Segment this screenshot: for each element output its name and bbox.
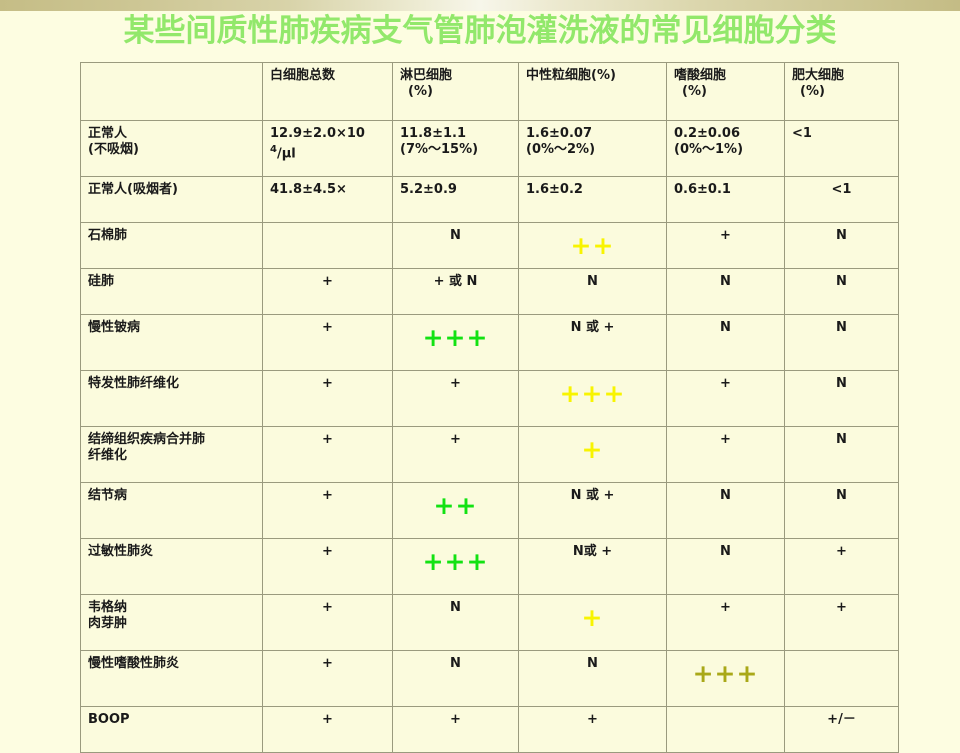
row-label: BOOP	[81, 707, 263, 753]
column-header-total-wbc: 白细胞总数	[263, 63, 393, 121]
cell-mast-cell-value: +	[836, 544, 847, 559]
cell-total-wbc-exponent: 4	[270, 144, 277, 155]
cell-total-wbc-value: 12.9±2.0×10	[270, 126, 365, 141]
cell-total-wbc: +	[263, 595, 393, 651]
table-row: 石棉肺 N ++ + N	[81, 223, 899, 269]
cell-neutrophil: ++	[519, 223, 667, 269]
cell-neutrophil: +	[519, 707, 667, 753]
cell-eosinophil-range: (0%～1%)	[674, 142, 743, 157]
cell-eosinophil-value: N	[720, 320, 731, 335]
row-label: 结节病	[81, 483, 263, 539]
cell-lymphocyte-grade-mark: +++	[400, 320, 511, 350]
cell-mast-cell-value: N	[836, 228, 847, 243]
table-header: 白细胞总数 淋巴细胞 (%) 中性粒细胞(%) 嗜酸细胞 (%) 肥大细胞 (%…	[81, 63, 899, 121]
cell-lymphocyte: N	[393, 595, 519, 651]
cell-eosinophil: +	[667, 371, 785, 427]
slide-title: 某些间质性肺疾病支气管肺泡灌洗液的常见细胞分类	[0, 10, 960, 52]
cell-mast-cell-value: <1	[832, 182, 852, 197]
cell-lymphocyte: +	[393, 707, 519, 753]
cell-total-wbc: +	[263, 371, 393, 427]
cell-total-wbc-unit: /μl	[277, 146, 296, 161]
cell-total-wbc-value: 41.8±4.5×	[270, 182, 347, 197]
row-label-line1: 韦格纳	[88, 600, 127, 615]
cell-eosinophil-value: N	[720, 544, 731, 559]
row-label-line1: 正常人(吸烟者)	[88, 182, 178, 197]
cell-total-wbc-value: +	[322, 656, 333, 671]
cell-lymphocyte-value: +	[450, 376, 461, 391]
row-label: 正常人 (不吸烟)	[81, 121, 263, 177]
cell-mast-cell: N	[785, 269, 899, 315]
cell-neutrophil-grade-mark: +	[526, 600, 659, 630]
cell-neutrophil: 1.6±0.07 (0%～2%)	[519, 121, 667, 177]
cell-eosinophil-value: +	[720, 376, 731, 391]
column-header-total-wbc-label: 白细胞总数	[270, 68, 335, 83]
cell-mast-cell-value: N	[836, 320, 847, 335]
row-label: 韦格纳 肉芽肿	[81, 595, 263, 651]
cell-total-wbc-value: +	[322, 432, 333, 447]
cell-eosinophil: N	[667, 315, 785, 371]
column-header-neutrophil-label: 中性粒细胞(%)	[526, 68, 616, 83]
cell-eosinophil-value: N	[720, 274, 731, 289]
cell-lymphocyte: N	[393, 651, 519, 707]
cell-total-wbc-value: +	[322, 376, 333, 391]
cell-eosinophil-value: +	[720, 600, 731, 615]
cell-lymphocyte: + 或 N	[393, 269, 519, 315]
cell-lymphocyte: +++	[393, 539, 519, 595]
cell-neutrophil-value: N	[587, 274, 598, 289]
cell-mast-cell: <1	[785, 121, 899, 177]
row-label-line1: 正常人	[88, 126, 127, 141]
cell-total-wbc	[263, 223, 393, 269]
cell-mast-cell-value: +	[836, 600, 847, 615]
cell-eosinophil: N	[667, 539, 785, 595]
cell-neutrophil-value: N	[587, 656, 598, 671]
table-row: 过敏性肺炎 + +++ N或 + N +	[81, 539, 899, 595]
cell-lymphocyte-value: 5.2±0.9	[400, 182, 457, 197]
cell-mast-cell: N	[785, 483, 899, 539]
cell-mast-cell-value: N	[836, 432, 847, 447]
table-row: 结节病 + ++ N 或 + N N	[81, 483, 899, 539]
table-row: 慢性嗜酸性肺炎 + N N +++	[81, 651, 899, 707]
table-header-row: 白细胞总数 淋巴细胞 (%) 中性粒细胞(%) 嗜酸细胞 (%) 肥大细胞 (%…	[81, 63, 899, 121]
column-header-mast-cell-label: 肥大细胞	[792, 68, 844, 83]
cell-lymphocyte: +	[393, 427, 519, 483]
row-label-line2: 肉芽肿	[88, 616, 127, 631]
cell-eosinophil: +	[667, 427, 785, 483]
cell-mast-cell: +/－	[785, 707, 899, 753]
column-header-eosinophil-unit: (%)	[674, 84, 777, 100]
cell-eosinophil-value: 0.6±0.1	[674, 182, 731, 197]
cell-total-wbc-value: +	[322, 274, 333, 289]
cell-eosinophil-value: +	[720, 228, 731, 243]
cell-mast-cell-value: N	[836, 488, 847, 503]
cell-total-wbc: +	[263, 269, 393, 315]
cell-lymphocyte-grade-mark: ++	[400, 488, 511, 518]
cell-mast-cell-value: N	[836, 274, 847, 289]
cell-lymphocyte: +	[393, 371, 519, 427]
cell-mast-cell: +	[785, 595, 899, 651]
cell-neutrophil: N 或 +	[519, 483, 667, 539]
row-label: 慢性嗜酸性肺炎	[81, 651, 263, 707]
column-header-disease	[81, 63, 263, 121]
column-header-lymphocyte-label: 淋巴细胞	[400, 68, 452, 83]
cell-mast-cell: +	[785, 539, 899, 595]
cell-mast-cell: N	[785, 315, 899, 371]
cell-total-wbc: +	[263, 315, 393, 371]
table-row: 正常人(吸烟者) 41.8±4.5× 5.2±0.9 1.6±0.2 0.6±0…	[81, 177, 899, 223]
cell-lymphocyte-value: +	[450, 432, 461, 447]
row-label: 特发性肺纤维化	[81, 371, 263, 427]
table-row: 硅肺 + + 或 N N N N	[81, 269, 899, 315]
cell-eosinophil: N	[667, 269, 785, 315]
row-label-line1: 结缔组织疾病合并肺	[88, 432, 205, 447]
cell-mast-cell	[785, 651, 899, 707]
cell-lymphocyte: 5.2±0.9	[393, 177, 519, 223]
cell-neutrophil-value: N 或 +	[571, 488, 615, 503]
cell-neutrophil-grade-mark: +	[526, 432, 659, 462]
cell-lymphocyte-value: N	[450, 656, 461, 671]
cell-neutrophil-value: 1.6±0.07	[526, 126, 592, 141]
cell-mast-cell-value: N	[836, 376, 847, 391]
row-label: 石棉肺	[81, 223, 263, 269]
cell-neutrophil: N	[519, 269, 667, 315]
cell-eosinophil-value: N	[720, 488, 731, 503]
cell-eosinophil: +++	[667, 651, 785, 707]
cell-neutrophil: 1.6±0.2	[519, 177, 667, 223]
cell-total-wbc: 12.9±2.0×10 4/μl	[263, 121, 393, 177]
cell-mast-cell-value: <1	[792, 126, 812, 141]
cell-total-wbc: +	[263, 427, 393, 483]
table-row: 韦格纳 肉芽肿 + N + + +	[81, 595, 899, 651]
cell-neutrophil: N或 +	[519, 539, 667, 595]
cell-mast-cell: N	[785, 427, 899, 483]
cell-eosinophil: 0.6±0.1	[667, 177, 785, 223]
cell-lymphocyte-range: (7%～15%)	[400, 142, 478, 157]
table-row: BOOP + + + +/－	[81, 707, 899, 753]
row-label: 结缔组织疾病合并肺 纤维化	[81, 427, 263, 483]
cell-lymphocyte-grade-mark: +++	[400, 544, 511, 574]
cell-lymphocyte-value: 11.8±1.1	[400, 126, 466, 141]
row-label: 慢性铍病	[81, 315, 263, 371]
cell-mast-cell: <1	[785, 177, 899, 223]
column-header-neutrophil: 中性粒细胞(%)	[519, 63, 667, 121]
cell-total-wbc: +	[263, 707, 393, 753]
row-label-line2: 纤维化	[88, 448, 127, 463]
cell-total-wbc-value: +	[322, 320, 333, 335]
column-header-eosinophil: 嗜酸细胞 (%)	[667, 63, 785, 121]
row-label-line1: 过敏性肺炎	[88, 544, 153, 559]
row-label-line1: 慢性铍病	[88, 320, 140, 335]
column-header-lymphocyte-unit: (%)	[400, 84, 511, 100]
cell-total-wbc: +	[263, 651, 393, 707]
row-label-line1: 石棉肺	[88, 228, 127, 243]
cell-total-wbc: 41.8±4.5×	[263, 177, 393, 223]
row-label-line2: (不吸烟)	[88, 142, 139, 157]
cell-lymphocyte: +++	[393, 315, 519, 371]
column-header-lymphocyte: 淋巴细胞 (%)	[393, 63, 519, 121]
cell-neutrophil-grade-mark: ++	[526, 228, 659, 258]
table-row: 正常人 (不吸烟) 12.9±2.0×10 4/μl 11.8±1.1 (7%～…	[81, 121, 899, 177]
row-label-line1: 硅肺	[88, 274, 114, 289]
table-body: 正常人 (不吸烟) 12.9±2.0×10 4/μl 11.8±1.1 (7%～…	[81, 121, 899, 753]
cell-eosinophil: 0.2±0.06 (0%～1%)	[667, 121, 785, 177]
cell-neutrophil-value: 1.6±0.2	[526, 182, 583, 197]
row-label: 正常人(吸烟者)	[81, 177, 263, 223]
cell-mast-cell: N	[785, 223, 899, 269]
cell-mast-cell: N	[785, 371, 899, 427]
cell-eosinophil: +	[667, 223, 785, 269]
cell-neutrophil: N 或 +	[519, 315, 667, 371]
cell-eosinophil: N	[667, 483, 785, 539]
cell-lymphocyte: N	[393, 223, 519, 269]
bal-cell-classification-table-wrapper: 白细胞总数 淋巴细胞 (%) 中性粒细胞(%) 嗜酸细胞 (%) 肥大细胞 (%…	[80, 62, 898, 753]
row-label-line1: 结节病	[88, 488, 127, 503]
column-header-mast-cell-unit: (%)	[792, 84, 891, 100]
table-row: 结缔组织疾病合并肺 纤维化 + + + + N	[81, 427, 899, 483]
cell-neutrophil-range: (0%～2%)	[526, 142, 595, 157]
cell-lymphocyte: 11.8±1.1 (7%～15%)	[393, 121, 519, 177]
table-row: 特发性肺纤维化 + + +++ + N	[81, 371, 899, 427]
cell-lymphocyte-value: + 或 N	[434, 274, 478, 289]
cell-neutrophil-value: N 或 +	[571, 320, 615, 335]
row-label: 硅肺	[81, 269, 263, 315]
cell-total-wbc-value: +	[322, 600, 333, 615]
cell-total-wbc-value: +	[322, 488, 333, 503]
cell-total-wbc: +	[263, 539, 393, 595]
table-row: 慢性铍病 + +++ N 或 + N N	[81, 315, 899, 371]
cell-neutrophil-grade-mark: +++	[526, 376, 659, 406]
cell-eosinophil: +	[667, 595, 785, 651]
column-header-eosinophil-label: 嗜酸细胞	[674, 68, 726, 83]
cell-neutrophil: +++	[519, 371, 667, 427]
cell-total-wbc-value: +	[322, 544, 333, 559]
cell-neutrophil: N	[519, 651, 667, 707]
cell-total-wbc: +	[263, 483, 393, 539]
row-label: 过敏性肺炎	[81, 539, 263, 595]
column-header-mast-cell: 肥大细胞 (%)	[785, 63, 899, 121]
bal-cell-classification-table: 白细胞总数 淋巴细胞 (%) 中性粒细胞(%) 嗜酸细胞 (%) 肥大细胞 (%…	[80, 62, 899, 753]
row-label-line1: 特发性肺纤维化	[88, 376, 179, 391]
cell-lymphocyte-value: N	[450, 600, 461, 615]
cell-neutrophil: +	[519, 427, 667, 483]
cell-lymphocyte: ++	[393, 483, 519, 539]
cell-neutrophil-value: N或 +	[573, 544, 612, 559]
cell-lymphocyte-value: N	[450, 228, 461, 243]
cell-neutrophil: +	[519, 595, 667, 651]
row-label-line1: 慢性嗜酸性肺炎	[88, 656, 179, 671]
cell-eosinophil-value: +	[720, 432, 731, 447]
cell-eosinophil-value: 0.2±0.06	[674, 126, 740, 141]
cell-eosinophil	[667, 707, 785, 753]
cell-eosinophil-grade-mark: +++	[674, 656, 777, 686]
